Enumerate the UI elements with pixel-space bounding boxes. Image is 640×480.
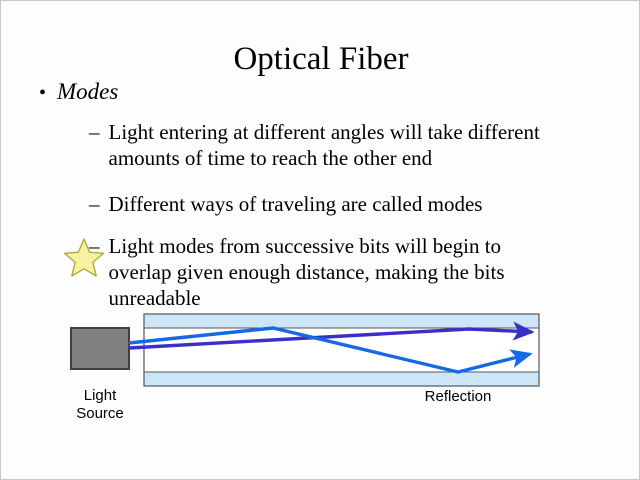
- bullet-marker-icon: •: [39, 81, 46, 105]
- bullet-level2-label-1: Light entering at different angles will …: [109, 119, 568, 171]
- bullet-level2-label-3: Light modes from successive bits will be…: [109, 233, 568, 311]
- fiber-core: [144, 328, 539, 372]
- page-title: Optical Fiber: [1, 41, 640, 77]
- fiber-cladding-bottom: [144, 372, 539, 386]
- light-source-label: Light Source: [49, 387, 151, 423]
- bullet-level2-item-1: – Light entering at different angles wil…: [89, 119, 567, 171]
- bullet-level2-label-2: Different ways of traveling are called m…: [109, 191, 483, 217]
- reflection-label: Reflection: [397, 388, 519, 406]
- dash-marker-icon: –: [89, 119, 100, 145]
- fiber-cladding-top: [144, 314, 539, 328]
- light-source-label-line1: Light: [49, 387, 151, 405]
- dash-marker-icon: –: [89, 191, 100, 217]
- bullet-level1-label: Modes: [57, 79, 118, 105]
- star-icon: [63, 237, 105, 277]
- bullet-level2-item-2: – Different ways of traveling are called…: [89, 191, 567, 217]
- light-source-box: [71, 328, 129, 369]
- bullet-level1-modes: • Modes: [39, 79, 118, 105]
- ray-multimode-bright: [129, 328, 530, 372]
- presentation-slide: Optical Fiber • Modes – Light entering a…: [0, 0, 640, 480]
- ray-lowmode-dark: [129, 329, 532, 348]
- fiber-body: [144, 314, 539, 386]
- light-source-label-line2: Source: [49, 405, 151, 423]
- fiber-outline: [144, 314, 539, 386]
- bullet-level2-item-3: – Light modes from successive bits will …: [89, 233, 567, 311]
